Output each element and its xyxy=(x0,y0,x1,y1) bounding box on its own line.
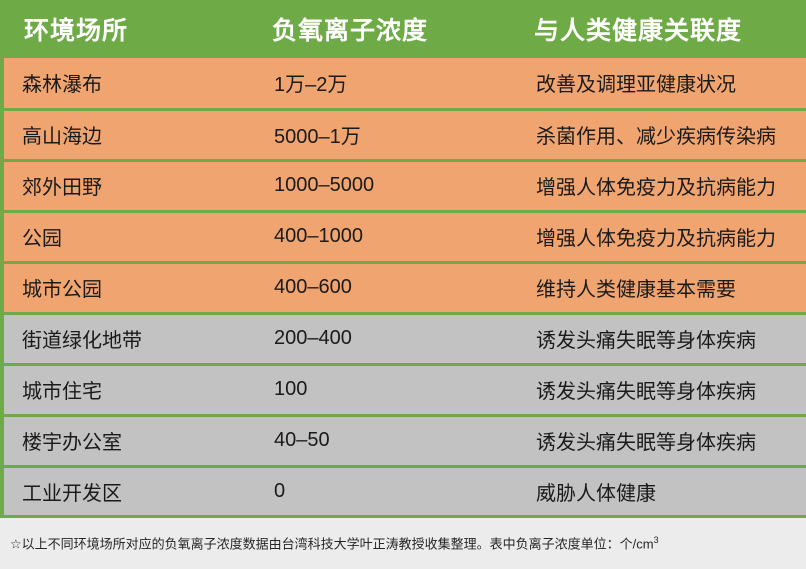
cell-health-text: 诱发头痛失眠等身体疾病 xyxy=(499,324,806,353)
cell-health: 威胁人体健康 xyxy=(499,466,806,517)
cell-environment: 工业开发区 xyxy=(2,466,247,517)
cell-environment-text: 高山海边 xyxy=(4,120,247,149)
cell-health-text: 维持人类健康基本需要 xyxy=(499,273,806,302)
table-row: 公园 400–1000 增强人体免疫力及抗病能力 xyxy=(2,211,806,262)
cell-environment: 公园 xyxy=(2,211,247,262)
footnote-area: ☆以上不同环境场所对应的负氧离子浓度数据由台湾科技大学叶正涛教授收集整理。表中负… xyxy=(0,518,806,569)
table-row: 郊外田野 1000–5000 增强人体免疫力及抗病能力 xyxy=(2,160,806,211)
cell-concentration-text: 5000–1万 xyxy=(247,120,499,149)
page-root: 环境场所 负氧离子浓度 与人类健康关联度 森林瀑布 1万–2万 改善及调理亚健康… xyxy=(0,0,806,569)
cell-concentration: 100 xyxy=(247,364,499,415)
column-header-environment-label: 环境场所 xyxy=(2,11,247,47)
table-header: 环境场所 负氧离子浓度 与人类健康关联度 xyxy=(2,0,806,58)
cell-concentration: 200–400 xyxy=(247,313,499,364)
cell-concentration-text: 40–50 xyxy=(247,429,499,452)
air-ion-concentration-table: 环境场所 负氧离子浓度 与人类健康关联度 森林瀑布 1万–2万 改善及调理亚健康… xyxy=(0,0,806,518)
cell-environment-text: 郊外田野 xyxy=(4,171,247,200)
column-header-environment: 环境场所 xyxy=(2,0,247,58)
table-row: 城市公园 400–600 维持人类健康基本需要 xyxy=(2,262,806,313)
footnote-main-text: ☆以上不同环境场所对应的负氧离子浓度数据由台湾科技大学叶正涛教授收集整理。表中负… xyxy=(10,536,654,551)
cell-concentration-text: 100 xyxy=(247,378,499,401)
cell-environment-text: 城市公园 xyxy=(4,273,247,302)
cell-health-text: 增强人体免疫力及抗病能力 xyxy=(499,222,806,251)
footnote-text: ☆以上不同环境场所对应的负氧离子浓度数据由台湾科技大学叶正涛教授收集整理。表中负… xyxy=(0,535,659,552)
cell-health: 诱发头痛失眠等身体疾病 xyxy=(499,415,806,466)
cell-environment: 楼宇办公室 xyxy=(2,415,247,466)
cell-health: 诱发头痛失眠等身体疾病 xyxy=(499,313,806,364)
cell-concentration-text: 400–1000 xyxy=(247,225,499,248)
table-body: 森林瀑布 1万–2万 改善及调理亚健康状况 高山海边 5000–1万 杀菌作用、… xyxy=(2,58,806,517)
footnote-superscript: 3 xyxy=(654,535,659,545)
cell-concentration: 5000–1万 xyxy=(247,109,499,160)
cell-concentration-text: 1000–5000 xyxy=(247,174,499,197)
table-row: 楼宇办公室 40–50 诱发头痛失眠等身体疾病 xyxy=(2,415,806,466)
cell-environment: 城市公园 xyxy=(2,262,247,313)
table-row: 街道绿化地带 200–400 诱发头痛失眠等身体疾病 xyxy=(2,313,806,364)
cell-concentration-text: 200–400 xyxy=(247,327,499,350)
cell-concentration: 0 xyxy=(247,466,499,517)
cell-environment-text: 城市住宅 xyxy=(4,375,247,404)
column-header-concentration: 负氧离子浓度 xyxy=(247,0,499,58)
cell-health: 诱发头痛失眠等身体疾病 xyxy=(499,364,806,415)
cell-environment-text: 街道绿化地带 xyxy=(4,324,247,353)
cell-health: 维持人类健康基本需要 xyxy=(499,262,806,313)
cell-health-text: 增强人体免疫力及抗病能力 xyxy=(499,171,806,200)
cell-environment: 郊外田野 xyxy=(2,160,247,211)
cell-environment-text: 森林瀑布 xyxy=(4,68,247,97)
cell-environment-text: 楼宇办公室 xyxy=(4,426,247,455)
cell-environment: 森林瀑布 xyxy=(2,58,247,109)
column-header-health-label: 与人类健康关联度 xyxy=(499,11,806,47)
table-header-row: 环境场所 负氧离子浓度 与人类健康关联度 xyxy=(2,0,806,58)
cell-concentration: 400–1000 xyxy=(247,211,499,262)
table: 环境场所 负氧离子浓度 与人类健康关联度 森林瀑布 1万–2万 改善及调理亚健康… xyxy=(0,0,806,519)
table-row: 城市住宅 100 诱发头痛失眠等身体疾病 xyxy=(2,364,806,415)
cell-health: 增强人体免疫力及抗病能力 xyxy=(499,211,806,262)
table-row: 森林瀑布 1万–2万 改善及调理亚健康状况 xyxy=(2,58,806,109)
cell-environment-text: 公园 xyxy=(4,222,247,251)
cell-concentration: 1万–2万 xyxy=(247,58,499,109)
cell-health: 增强人体免疫力及抗病能力 xyxy=(499,160,806,211)
table-row: 高山海边 5000–1万 杀菌作用、减少疾病传染病 xyxy=(2,109,806,160)
cell-health-text: 杀菌作用、减少疾病传染病 xyxy=(499,120,806,149)
cell-concentration: 40–50 xyxy=(247,415,499,466)
cell-health: 杀菌作用、减少疾病传染病 xyxy=(499,109,806,160)
table-row: 工业开发区 0 威胁人体健康 xyxy=(2,466,806,517)
cell-health-text: 改善及调理亚健康状况 xyxy=(499,68,806,97)
cell-concentration: 1000–5000 xyxy=(247,160,499,211)
cell-concentration: 400–600 xyxy=(247,262,499,313)
cell-environment: 高山海边 xyxy=(2,109,247,160)
cell-concentration-text: 1万–2万 xyxy=(247,68,499,97)
column-header-concentration-label: 负氧离子浓度 xyxy=(247,11,499,47)
cell-health-text: 诱发头痛失眠等身体疾病 xyxy=(499,426,806,455)
column-header-health: 与人类健康关联度 xyxy=(499,0,806,58)
cell-health-text: 诱发头痛失眠等身体疾病 xyxy=(499,375,806,404)
cell-environment-text: 工业开发区 xyxy=(4,477,247,506)
cell-concentration-text: 0 xyxy=(247,480,499,503)
cell-health-text: 威胁人体健康 xyxy=(499,477,806,506)
cell-environment: 城市住宅 xyxy=(2,364,247,415)
cell-environment: 街道绿化地带 xyxy=(2,313,247,364)
cell-health: 改善及调理亚健康状况 xyxy=(499,58,806,109)
cell-concentration-text: 400–600 xyxy=(247,276,499,299)
